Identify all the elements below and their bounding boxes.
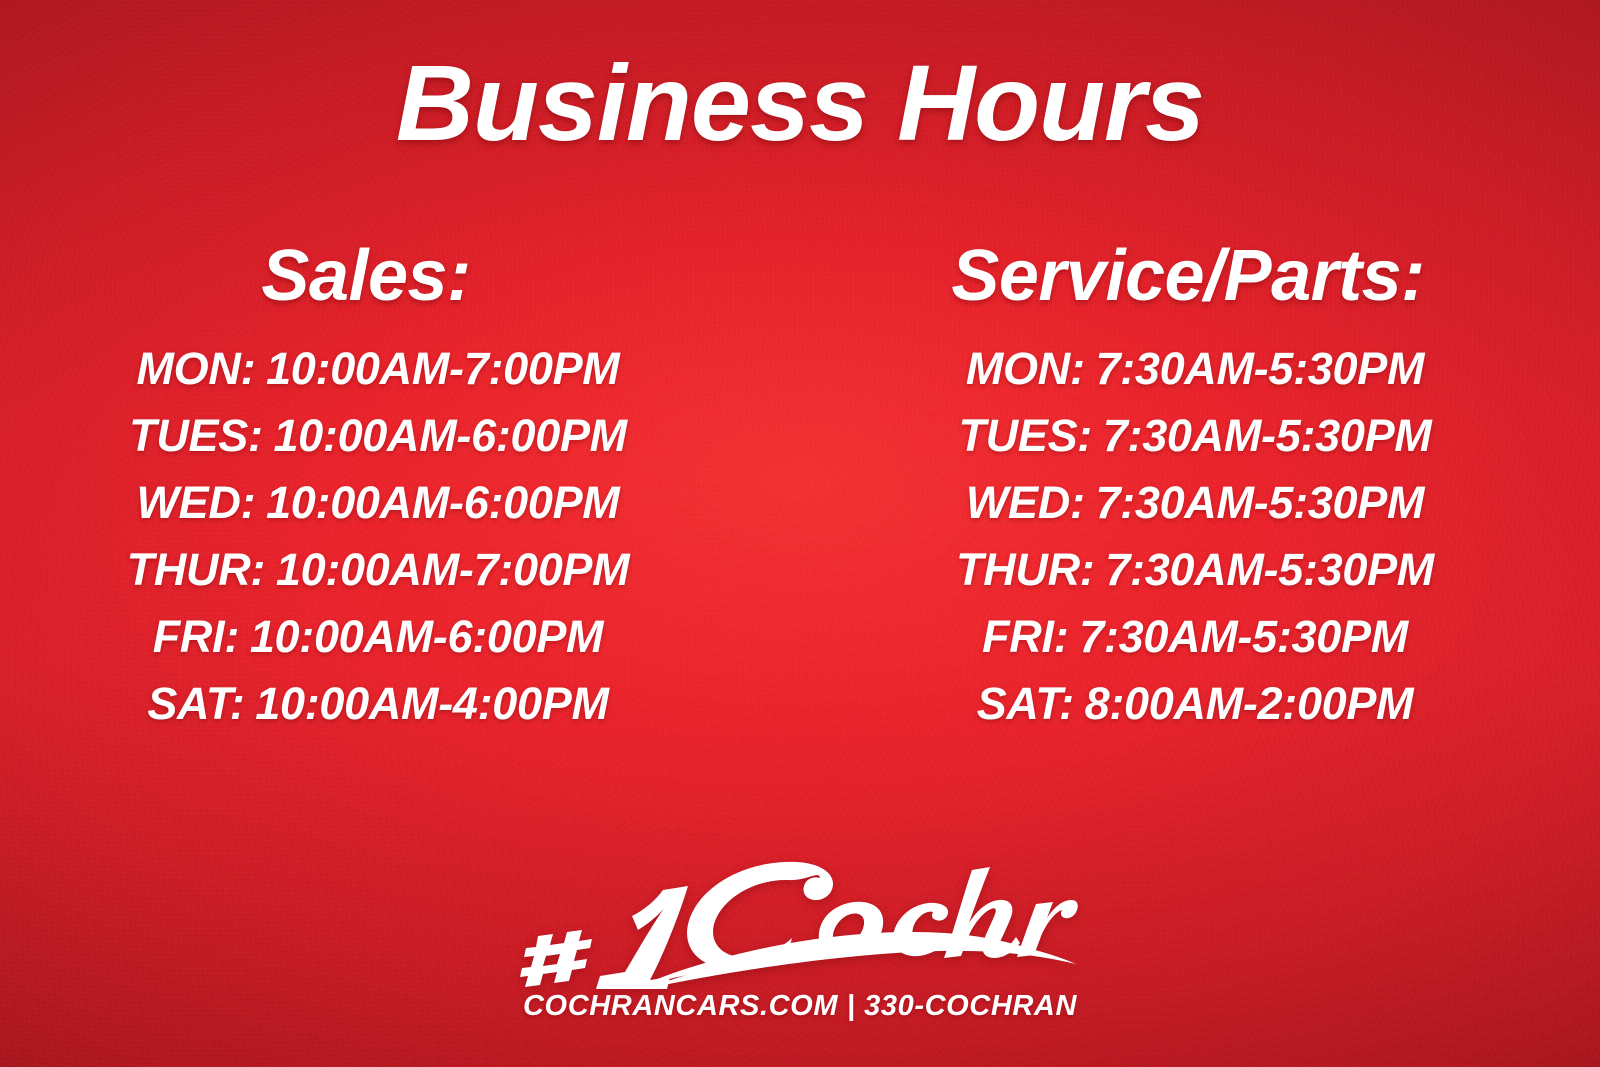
hours-row: MON:10:00AM-7:00PM: [0, 346, 756, 391]
hours-row: MON:7:30AM-5:30PM: [800, 346, 1590, 391]
hours-row-day: THUR:: [127, 544, 265, 595]
hours-row: FRI:7:30AM-5:30PM: [800, 614, 1590, 659]
hours-row-time: 10:00AM-4:00PM: [255, 678, 608, 729]
hours-row-time: 10:00AM-6:00PM: [266, 477, 619, 528]
hours-row: WED:7:30AM-5:30PM: [800, 480, 1590, 525]
hours-column-sales: Sales: MON:10:00AM-7:00PM TUES:10:00AM-6…: [0, 240, 800, 748]
hours-row-time: 7:30AM-5:30PM: [1079, 611, 1408, 662]
cochran-logo-icon: [520, 858, 1080, 990]
hours-row-day: MON:: [136, 343, 255, 394]
hours-row-day: SAT:: [977, 678, 1074, 729]
hours-row: SAT:10:00AM-4:00PM: [0, 681, 756, 726]
hours-row-time: 7:30AM-5:30PM: [1095, 343, 1424, 394]
hours-row-time: 10:00AM-7:00PM: [266, 343, 619, 394]
logo-tagline: COCHRANCARS.COM | 330-COCHRAN: [0, 992, 1600, 1021]
column-heading-sales: Sales:: [0, 240, 800, 312]
hours-row-time: 10:00AM-6:00PM: [273, 410, 626, 461]
brand-logo-block: COCHRANCARS.COM | 330-COCHRAN: [0, 858, 1600, 1021]
poster-content: Business Hours Sales: MON:10:00AM-7:00PM…: [0, 0, 1600, 1067]
hours-column-service-parts: Service/Parts: MON:7:30AM-5:30PM TUES:7:…: [800, 240, 1600, 748]
hours-row-day: SAT:: [147, 678, 244, 729]
hours-row-day: FRI:: [982, 611, 1068, 662]
hours-row: SAT:8:00AM-2:00PM: [800, 681, 1590, 726]
hours-row-day: THUR:: [956, 544, 1094, 595]
hours-row-time: 7:30AM-5:30PM: [1103, 410, 1432, 461]
business-hours-poster: Business Hours Sales: MON:10:00AM-7:00PM…: [0, 0, 1600, 1067]
hours-row: THUR:7:30AM-5:30PM: [800, 547, 1590, 592]
hours-row-day: WED:: [966, 477, 1085, 528]
hours-row: THUR:10:00AM-7:00PM: [0, 547, 756, 592]
hours-list-sales: MON:10:00AM-7:00PM TUES:10:00AM-6:00PM W…: [0, 346, 800, 726]
hours-columns: Sales: MON:10:00AM-7:00PM TUES:10:00AM-6…: [0, 240, 1600, 748]
hours-row-day: TUES:: [958, 410, 1092, 461]
hours-row-day: FRI:: [153, 611, 239, 662]
hours-row-time: 8:00AM-2:00PM: [1085, 678, 1414, 729]
hours-list-service-parts: MON:7:30AM-5:30PM TUES:7:30AM-5:30PM WED…: [800, 346, 1600, 726]
hours-row-day: WED:: [136, 477, 255, 528]
hours-row-time: 10:00AM-6:00PM: [250, 611, 603, 662]
hours-row-time: 7:30AM-5:30PM: [1105, 544, 1434, 595]
hours-row-day: MON:: [966, 343, 1085, 394]
page-title: Business Hours: [0, 46, 1600, 159]
hours-row-time: 10:00AM-7:00PM: [276, 544, 629, 595]
hours-row: WED:10:00AM-6:00PM: [0, 480, 756, 525]
column-heading-service-parts: Service/Parts:: [800, 240, 1600, 312]
hours-row: TUES:10:00AM-6:00PM: [0, 413, 756, 458]
hours-row-time: 7:30AM-5:30PM: [1095, 477, 1424, 528]
hours-row: FRI:10:00AM-6:00PM: [0, 614, 756, 659]
hours-row-day: TUES:: [129, 410, 263, 461]
hours-row: TUES:7:30AM-5:30PM: [800, 413, 1590, 458]
